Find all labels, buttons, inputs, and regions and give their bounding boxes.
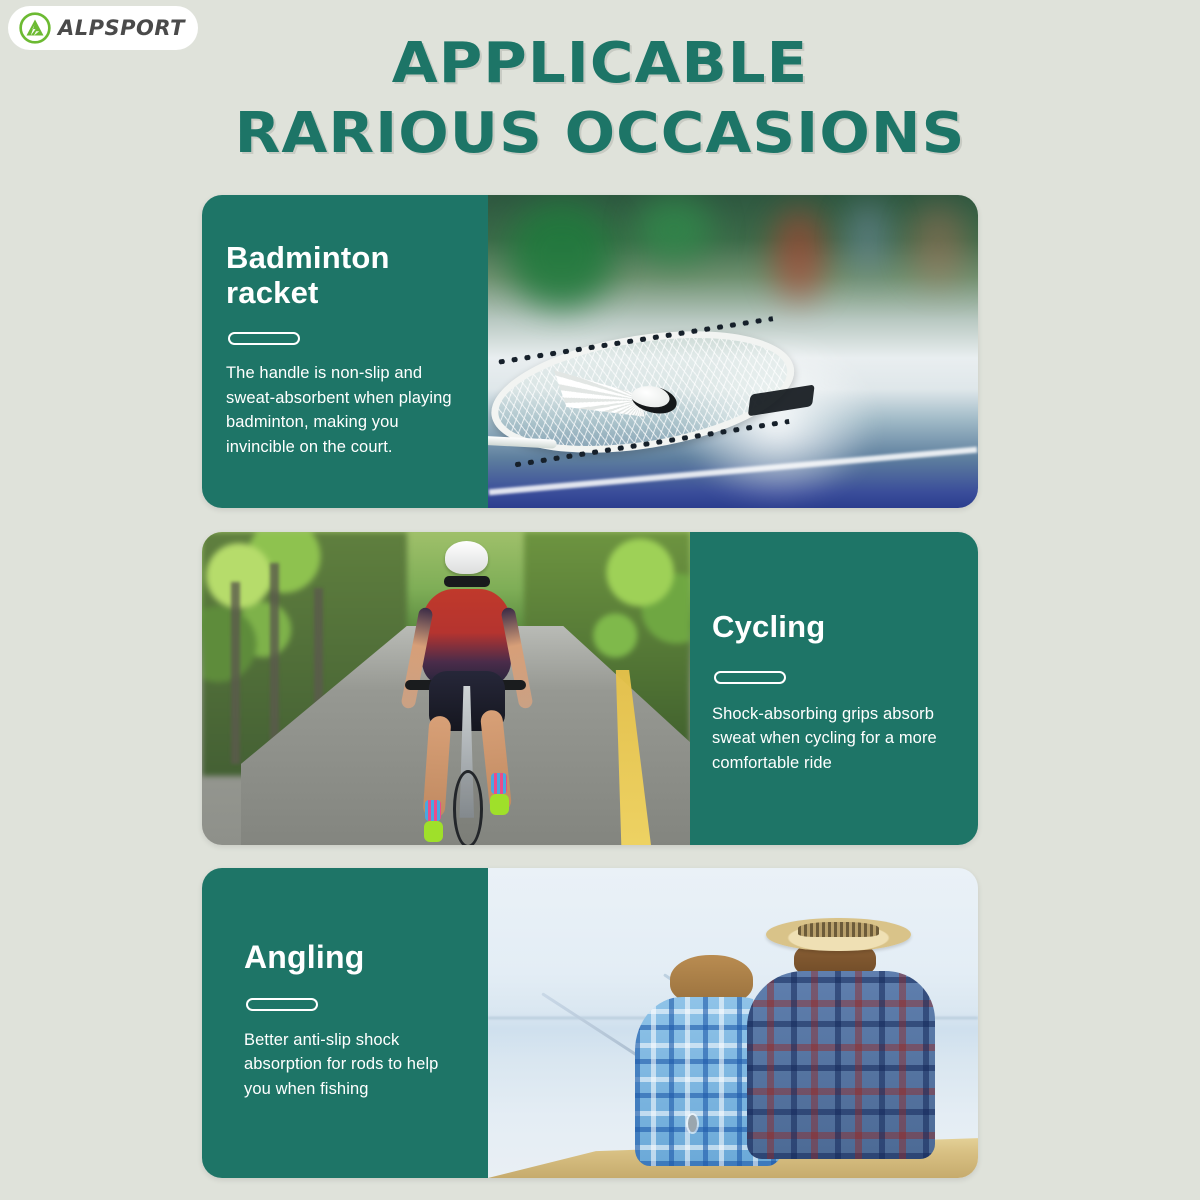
cyclist-figure	[402, 541, 529, 841]
cycling-shoe	[490, 794, 509, 815]
occasion-card-cycling[interactable]: Cycling Shock-absorbing grips absorb swe…	[202, 532, 978, 845]
bokeh-blob	[635, 195, 713, 264]
cycling-shoe	[424, 821, 443, 842]
card-image-cycling	[202, 532, 690, 845]
tree-trunk	[270, 563, 279, 757]
page-title: APPLICABLE RARIOUS OCCASIONS	[0, 34, 1200, 165]
pill-divider-icon	[714, 671, 786, 684]
card-description: Better anti-slip shock absorption for ro…	[244, 1028, 458, 1101]
sunglasses-icon	[444, 576, 490, 587]
bike-helmet-icon	[445, 541, 488, 574]
card-title: Cycling	[712, 610, 948, 645]
card-image-badminton	[488, 195, 978, 508]
bicycle-wheel	[453, 770, 483, 845]
card-title: Angling	[244, 940, 458, 976]
badminton-scene	[488, 195, 978, 508]
bokeh-blob	[846, 201, 890, 276]
pill-divider-icon	[246, 998, 318, 1011]
cycling-scene	[202, 532, 690, 845]
occasion-card-angling[interactable]: Angling Better anti-slip shock absorptio…	[202, 868, 978, 1178]
card-description: The handle is non-slip and sweat-absorbe…	[226, 361, 458, 459]
card-text-panel: Angling Better anti-slip shock absorptio…	[202, 868, 488, 1178]
man-figure	[743, 918, 939, 1160]
cycling-sock	[425, 800, 441, 821]
tree-trunk	[231, 582, 240, 764]
fishing-reel-icon	[688, 1115, 697, 1132]
card-description: Shock-absorbing grips absorb sweat when …	[712, 702, 948, 775]
straw-hat-icon	[766, 918, 911, 952]
occasion-card-badminton[interactable]: Badminton racket The handle is non-slip …	[202, 195, 978, 508]
bokeh-blob	[508, 201, 616, 307]
pill-divider-icon	[228, 332, 300, 345]
cycling-sock	[491, 773, 507, 794]
card-text-panel: Badminton racket The handle is non-slip …	[202, 195, 488, 508]
card-image-angling	[488, 868, 978, 1178]
fishing-scene	[488, 868, 978, 1178]
bokeh-blob	[909, 204, 968, 285]
card-text-panel: Cycling Shock-absorbing grips absorb swe…	[690, 532, 978, 845]
bokeh-blob	[772, 208, 826, 302]
man-plaid-shirt	[747, 971, 935, 1160]
page-title-line-2: RARIOUS OCCASIONS	[0, 104, 1200, 164]
card-title: Badminton racket	[226, 241, 458, 310]
page-title-line-1: APPLICABLE	[0, 34, 1200, 94]
